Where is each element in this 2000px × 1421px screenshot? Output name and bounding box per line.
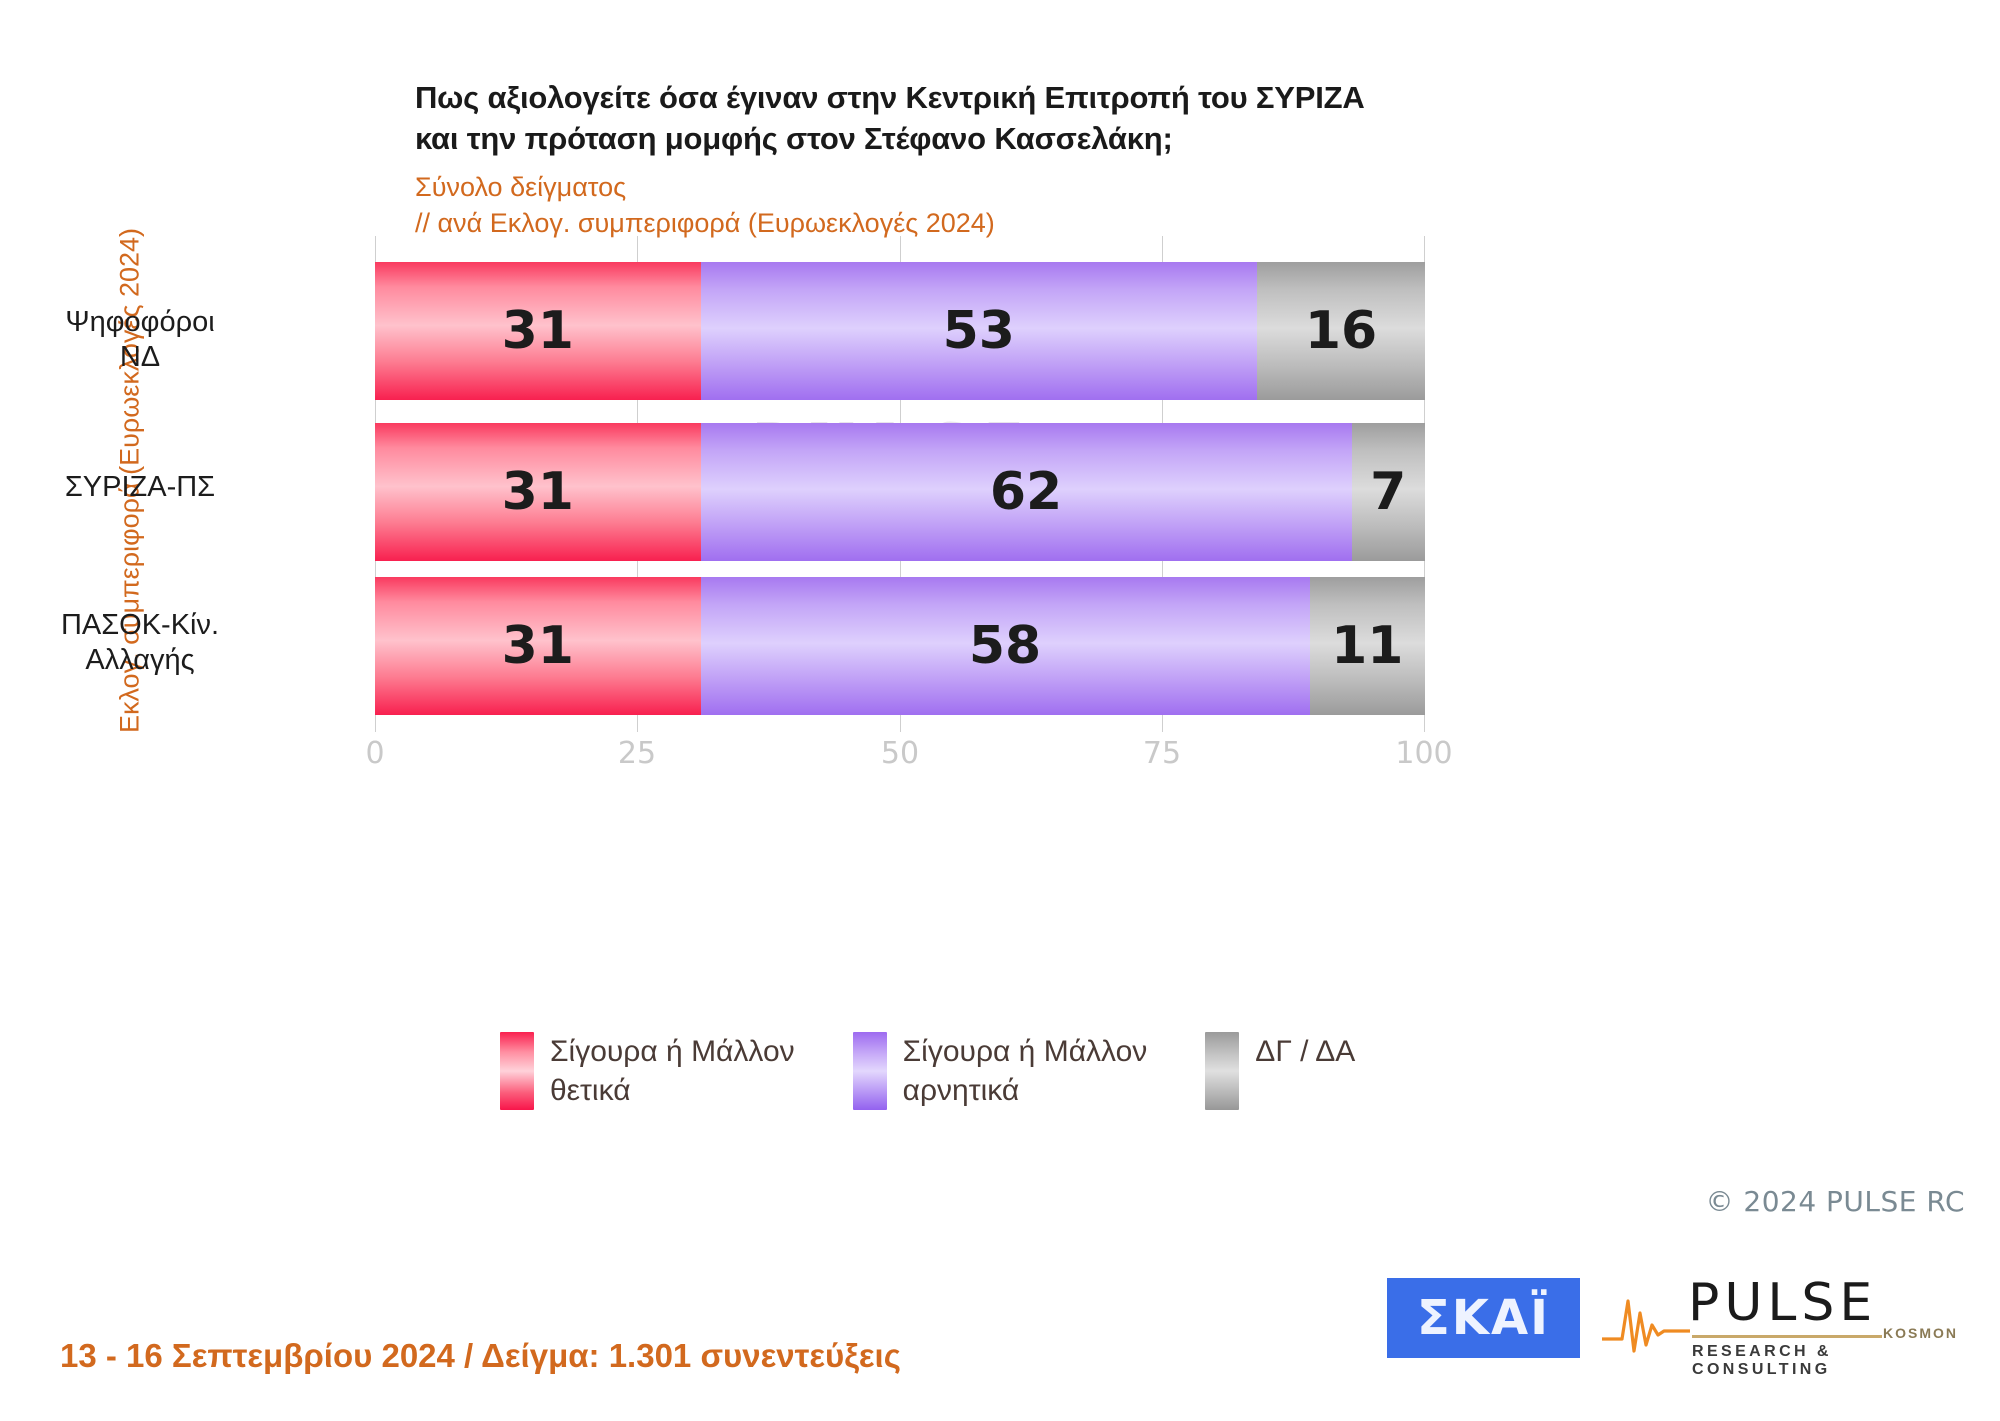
bar-value-positive: 31: [502, 462, 574, 522]
bar-value-negative: 53: [943, 301, 1015, 361]
chart-plot-area: PULSE RESEARCH & CONSULTING 31 53 16 31 …: [375, 258, 1425, 718]
table-row: 31 53 16: [375, 262, 1425, 400]
x-axis: 0 25 50 75 100: [375, 718, 1425, 778]
bar-segment-positive[interactable]: 31: [375, 577, 701, 715]
chart-legend: Σίγουρα ή Μάλλον θετικά Σίγουρα ή Μάλλον…: [500, 1032, 1355, 1110]
bar-segment-dk-na[interactable]: 11: [1310, 577, 1426, 715]
bar-value-negative: 58: [969, 616, 1041, 676]
bar-value-dk-na: 11: [1331, 616, 1403, 676]
bar-segment-dk-na[interactable]: 16: [1257, 262, 1425, 400]
legend-label-dk-na: ΔΓ / ΔΑ: [1255, 1032, 1355, 1071]
table-row: 31 58 11: [375, 577, 1425, 715]
legend-label-positive: Σίγουρα ή Μάλλον θετικά: [550, 1032, 795, 1110]
pulse-logo-kosmon: KOSMON: [1883, 1325, 1958, 1341]
legend-swatch-dk-na-icon: [1205, 1032, 1239, 1110]
copyright-text: © 2024 PULSE RC: [1705, 1185, 1965, 1218]
pulse-logo-divider: [1692, 1335, 1882, 1338]
x-tick-label-0: 0: [365, 736, 384, 771]
category-label-pasok-l2: Αλλαγής: [0, 643, 350, 678]
title-block: Πως αξιολογείτε όσα έγιναν στην Κεντρική…: [415, 78, 1765, 242]
bar-value-positive: 31: [502, 301, 574, 361]
fieldwork-note: 13 - 16 Σεπτεμβρίου 2024 / Δείγμα: 1.301…: [60, 1337, 901, 1375]
pulse-logo-subtitle: RESEARCH & CONSULTING: [1692, 1343, 1960, 1379]
x-tick-mark-50: [900, 718, 901, 732]
bar-value-positive: 31: [502, 616, 574, 676]
x-tick-mark-25: [637, 718, 638, 732]
x-tick-mark-100: [1424, 718, 1425, 732]
page-title-line-2: και την πρόταση μομφής στον Στέφανο Κασσ…: [415, 119, 1765, 160]
bar-segment-negative[interactable]: 62: [701, 423, 1352, 561]
pulse-wave-icon: [1600, 1279, 1692, 1371]
category-label-syriza-l1: ΣΥΡΙΖΑ-ΠΣ: [0, 470, 350, 505]
legend-item-negative[interactable]: Σίγουρα ή Μάλλον αρνητικά: [853, 1032, 1148, 1110]
pulse-logo-word: PULSE: [1688, 1273, 1877, 1333]
x-tick-label-75: 75: [1143, 736, 1181, 771]
category-label-nd-l2: ΝΔ: [0, 340, 350, 375]
category-label-nd: Ψηφοφόροι ΝΔ: [0, 305, 350, 376]
skai-logo-text: ΣΚΑΪ: [1417, 1290, 1550, 1346]
subtitle-line-2: // ανά Εκλογ. συμπεριφορά (Ευρωεκλογές 2…: [415, 206, 1765, 242]
bar-segment-positive[interactable]: 31: [375, 423, 701, 561]
category-label-pasok-l1: ΠΑΣΟΚ-Κίν.: [0, 608, 350, 643]
x-tick-label-100: 100: [1395, 736, 1452, 771]
bar-value-dk-na: 7: [1370, 462, 1406, 522]
category-label-syriza: ΣΥΡΙΖΑ-ΠΣ: [0, 470, 350, 505]
bar-value-dk-na: 16: [1305, 301, 1377, 361]
bar-segment-dk-na[interactable]: 7: [1352, 423, 1426, 561]
x-tick-mark-0: [375, 718, 376, 732]
category-label-nd-l1: Ψηφοφόροι: [0, 305, 350, 340]
bar-value-negative: 62: [990, 462, 1062, 522]
bar-segment-positive[interactable]: 31: [375, 262, 701, 400]
x-tick-mark-75: [1162, 718, 1163, 732]
subtitle-line-1: Σύνολο δείγματος: [415, 170, 1765, 206]
legend-swatch-negative-icon: [853, 1032, 887, 1110]
legend-swatch-positive-icon: [500, 1032, 534, 1110]
bar-segment-negative[interactable]: 58: [701, 577, 1310, 715]
legend-item-dk-na[interactable]: ΔΓ / ΔΑ: [1205, 1032, 1355, 1110]
category-label-pasok: ΠΑΣΟΚ-Κίν. Αλλαγής: [0, 608, 350, 679]
skai-logo: ΣΚΑΪ: [1387, 1278, 1580, 1358]
table-row: 31 62 7: [375, 423, 1425, 561]
x-tick-label-25: 25: [618, 736, 656, 771]
page-title-line-1: Πως αξιολογείτε όσα έγιναν στην Κεντρική…: [415, 78, 1765, 119]
pulse-logo: PULSE KOSMON RESEARCH & CONSULTING: [1600, 1273, 1960, 1368]
legend-label-negative: Σίγουρα ή Μάλλον αρνητικά: [903, 1032, 1148, 1110]
x-tick-label-50: 50: [881, 736, 919, 771]
bar-segment-negative[interactable]: 53: [701, 262, 1258, 400]
legend-item-positive[interactable]: Σίγουρα ή Μάλλον θετικά: [500, 1032, 795, 1110]
